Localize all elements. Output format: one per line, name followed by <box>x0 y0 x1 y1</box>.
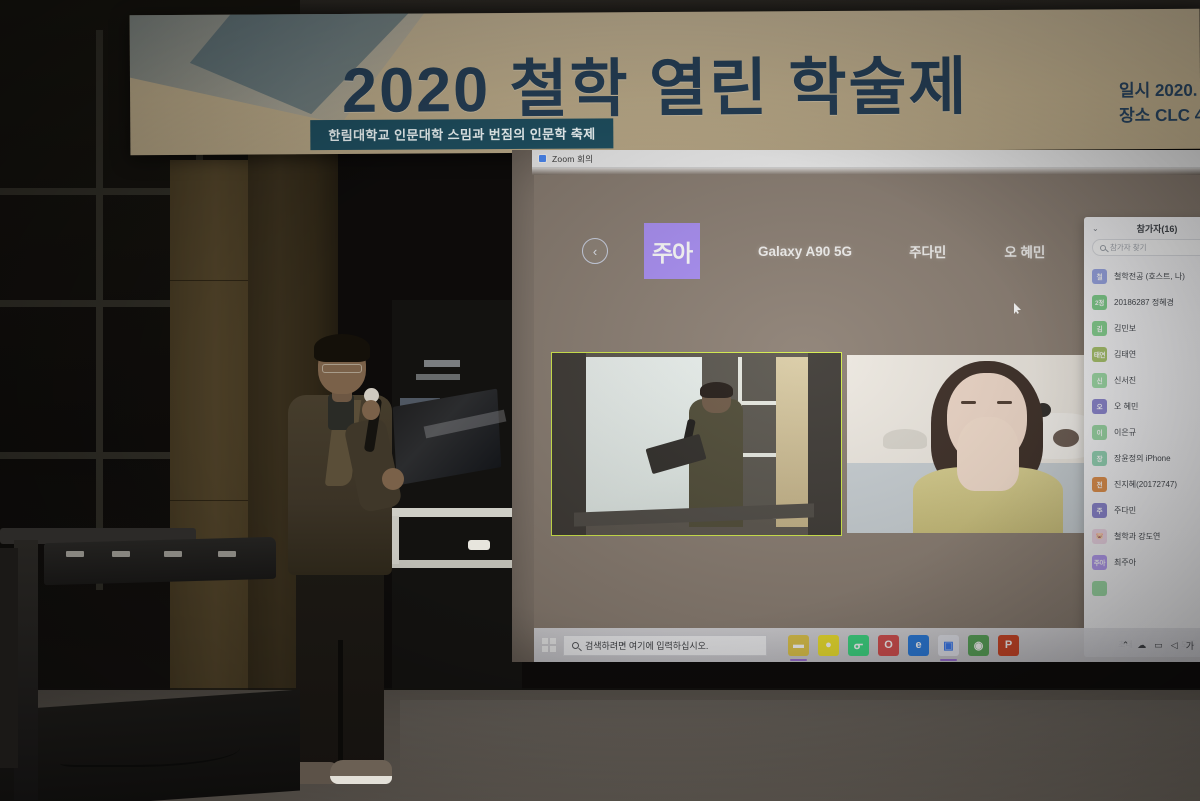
participant-avatar: 2정 <box>1092 295 1107 310</box>
video-tile-active-speaker[interactable] <box>552 353 841 535</box>
presenter-leg-gap <box>338 640 343 780</box>
internet-explorer-icon[interactable]: e <box>908 635 929 656</box>
naver-whale-icon[interactable]: ᓂ <box>848 635 869 656</box>
participant-avatar-tile[interactable]: 주아 <box>644 223 700 279</box>
zoom-icon[interactable]: ▣ <box>938 635 959 656</box>
podium-cabinet <box>0 548 18 768</box>
file-explorer-icon[interactable]: ▬ <box>788 635 809 656</box>
kakaotalk-icon[interactable]: ● <box>818 635 839 656</box>
floor-wall-line <box>0 688 1200 690</box>
participant-avatar: 태연 <box>1092 347 1107 362</box>
network-icon[interactable]: ▭ <box>1154 640 1163 651</box>
participant-row[interactable]: 주주다민 <box>1084 497 1200 523</box>
door-rail <box>392 560 522 568</box>
av-button[interactable] <box>164 551 182 557</box>
student-eye <box>961 401 976 404</box>
participant-name: 신서진 <box>1114 375 1136 386</box>
google-chrome-icon[interactable]: ◉ <box>968 635 989 656</box>
av-button[interactable] <box>218 551 236 557</box>
participant-name: 진지혜(20172747) <box>1114 479 1177 490</box>
banner-place: 장소 CLC 4 <box>1119 103 1200 128</box>
zoom-window-title: Zoom 회의 <box>552 153 593 165</box>
participant-row[interactable]: 철철학전공 (호스트, 나) <box>1084 263 1200 289</box>
participant-row[interactable]: 신신서진 <box>1084 367 1200 393</box>
zoom-video-icon <box>538 154 547 163</box>
participant-name: 김태연 <box>1114 349 1136 360</box>
windows-taskbar: 검색하려면 여기에 입력하십시오. ▬●ᓂOe▣◉P ⌃☁▭◁가 <box>534 628 1200 662</box>
opera-icon[interactable]: O <box>878 635 899 656</box>
participant-row[interactable]: 태연김태연 <box>1084 341 1200 367</box>
participant-search-input[interactable]: 참가자 찾기 <box>1092 239 1200 256</box>
window-mullion <box>96 30 103 590</box>
participant-name: 이은규 <box>1114 427 1136 438</box>
ime-korean-indicator[interactable]: 가 <box>1186 639 1194 652</box>
participant-row[interactable]: 🐷철학과 강도연 <box>1084 523 1200 549</box>
participant-row[interactable]: 이이은규 <box>1084 419 1200 445</box>
video-tile-student[interactable] <box>847 355 1122 533</box>
banner-subtitle: 한림대학교 인문대학 스밈과 번짐의 인문학 축제 <box>310 118 613 150</box>
search-icon <box>572 642 579 649</box>
student-eye <box>997 401 1012 404</box>
participant-name-tile[interactable]: Galaxy A90 5G <box>758 244 852 259</box>
windows-start-icon[interactable] <box>542 638 556 652</box>
av-control-tray[interactable] <box>44 537 276 585</box>
av-button[interactable] <box>112 551 130 557</box>
banner-date: 일시 2020. <box>1119 79 1200 104</box>
participants-list[interactable]: 철철학전공 (호스트, 나)2정20186287 정혜경김김민보태연김태연신신서… <box>1084 262 1200 631</box>
participant-row[interactable]: 오오 혜민 <box>1084 393 1200 419</box>
lecture-hall-scene: 2020 철학 열린 학술제 한림대학교 인문대학 스밈과 번짐의 인문학 축제… <box>0 0 1200 801</box>
participants-count-title: 참가자(16) <box>1084 222 1200 235</box>
system-tray: ⌃☁▭◁가 <box>1122 639 1198 652</box>
filmstrip-back-arrow-icon[interactable]: ‹ <box>582 238 608 264</box>
banner-title: 2020 철학 열린 학술제 <box>342 36 969 131</box>
participant-name: 김민보 <box>1114 323 1136 334</box>
event-banner: 2020 철학 열린 학술제 한림대학교 인문대학 스밈과 번짐의 인문학 축제… <box>130 9 1200 156</box>
participant-row[interactable]: 전진지혜(20172747) <box>1084 471 1200 497</box>
presenter-hair <box>314 334 370 362</box>
search-icon <box>1100 245 1106 251</box>
projection-screen: Zoom 회의 ‹ 주아 Galaxy A90 5G 주다민 오 혜민 <box>512 150 1200 662</box>
participant-name: 철학전공 (호스트, 나) <box>1114 271 1185 282</box>
participant-avatar: 주 <box>1092 503 1107 518</box>
student-hands <box>957 417 1019 491</box>
participant-avatar: 오 <box>1092 399 1107 414</box>
taskbar-search-placeholder: 검색하려면 여기에 입력하십시오. <box>585 639 708 652</box>
video-tile-grid <box>552 353 1122 535</box>
volume-icon[interactable]: ◁ <box>1171 640 1178 651</box>
participant-avatar <box>1092 581 1107 596</box>
participant-avatar: 전 <box>1092 477 1107 492</box>
presenter-shoe-sole <box>330 776 392 784</box>
participant-name: 주다민 <box>1114 505 1136 516</box>
participant-name: 최주아 <box>1114 557 1136 568</box>
participant-row[interactable]: 2정20186287 정혜경 <box>1084 289 1200 315</box>
door-rail <box>392 508 522 517</box>
participant-avatar: 장 <box>1092 451 1107 466</box>
powerpoint-icon[interactable]: P <box>998 635 1019 656</box>
presenter-hand <box>362 400 380 420</box>
titlebar-shadow <box>532 168 1200 175</box>
participant-name: 오 혜민 <box>1114 401 1138 412</box>
participant-name-tile[interactable]: 주다민 <box>909 241 946 261</box>
floor-sheen <box>400 700 1200 801</box>
mouse-pointer <box>1014 303 1021 314</box>
background-object <box>883 429 927 449</box>
av-button[interactable] <box>66 551 84 557</box>
participant-name: 장윤정의 iPhone <box>1114 453 1171 464</box>
ceiling-light-reflection <box>416 374 460 380</box>
participant-avatar: 김 <box>1092 321 1107 336</box>
participant-name: 20186287 정혜경 <box>1114 297 1174 308</box>
tile-letterbox <box>552 353 586 535</box>
onedrive-cloud-icon[interactable]: ☁ <box>1137 640 1146 651</box>
zoom-meeting-canvas: ‹ 주아 Galaxy A90 5G 주다민 오 혜민 <box>534 175 1200 662</box>
presenter-hand <box>382 468 404 490</box>
participant-avatar: 🐷 <box>1092 529 1107 544</box>
participant-row[interactable] <box>1084 575 1200 601</box>
wall-panel <box>776 357 808 527</box>
banner-meta: 일시 2020. 장소 CLC 4 <box>1119 79 1200 129</box>
participant-search-placeholder: 참가자 찾기 <box>1110 242 1147 253</box>
participants-panel-header: ⌄ 참가자(16) <box>1084 217 1200 239</box>
participant-name: 철학과 강도연 <box>1114 531 1160 542</box>
presenter-glasses <box>322 364 362 373</box>
taskbar-search-input[interactable]: 검색하려면 여기에 입력하십시오. <box>563 635 767 656</box>
participant-name-tile[interactable]: 오 혜민 <box>1004 241 1045 261</box>
plush-toy-spot <box>1053 429 1079 447</box>
presenter-hair <box>700 382 733 398</box>
door-frame <box>392 516 399 564</box>
participant-avatar: 이 <box>1092 425 1107 440</box>
participant-row[interactable]: 주아최주아 <box>1084 549 1200 575</box>
ceiling-light-reflection <box>424 360 460 367</box>
participants-panel: ⌄ 참가자(16) 참가자 찾기 철철학전공 (호스트, 나)2정2018628… <box>1084 217 1200 657</box>
zoom-window-titlebar[interactable]: Zoom 회의 <box>532 150 1200 168</box>
participant-avatar: 철 <box>1092 269 1107 284</box>
participant-avatar: 신 <box>1092 373 1107 388</box>
participant-avatar: 주아 <box>1092 555 1107 570</box>
participant-row[interactable]: 김김민보 <box>1084 315 1200 341</box>
taskbar-app-icons: ▬●ᓂOe▣◉P <box>788 635 1019 656</box>
show-hidden-icons-chevron[interactable]: ⌃ <box>1122 640 1130 651</box>
door-handle <box>468 540 490 550</box>
participant-row[interactable]: 장장윤정의 iPhone <box>1084 445 1200 471</box>
